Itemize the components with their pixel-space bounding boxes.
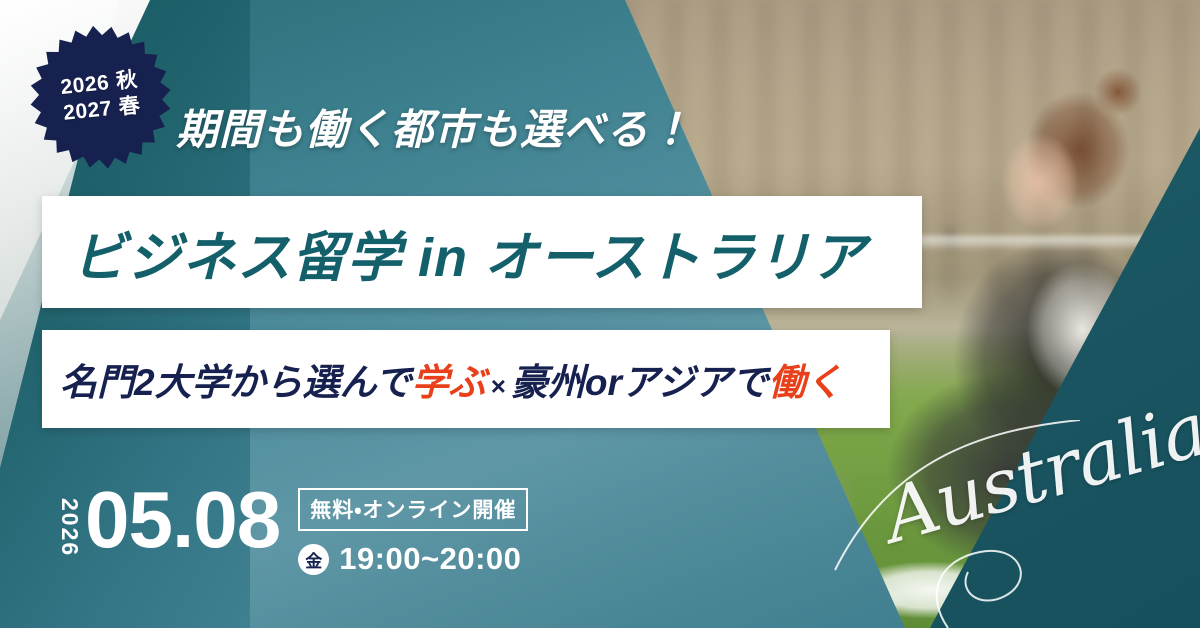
tagline: 期間も働く都市も選べる！ bbox=[176, 96, 692, 157]
free-online-badge: 無料・オンライン開催 bbox=[298, 488, 528, 531]
badge-year-2: 2027 bbox=[62, 96, 113, 124]
promo-banner: Australia 2026秋 2027春 期間も働く都市も選べる！ ビジネス留… bbox=[0, 0, 1200, 628]
event-time-row: 金 19:00~20:00 bbox=[298, 541, 528, 577]
event-details: 無料・オンライン開催 金 19:00~20:00 bbox=[298, 488, 528, 577]
event-time: 19:00~20:00 bbox=[339, 541, 521, 577]
page-title: ビジネス留学 in オーストラリア bbox=[72, 213, 866, 292]
weekday-badge: 金 bbox=[298, 544, 329, 575]
event-year: 2026 bbox=[58, 498, 81, 557]
subtitle-separator: × bbox=[491, 371, 506, 401]
badge-year-1: 2026 bbox=[60, 71, 111, 99]
title-box: ビジネス留学 in オーストラリア bbox=[42, 196, 922, 308]
subtitle-box: 名門2大学から選んで学ぶ×豪州orアジアで働く bbox=[42, 330, 890, 428]
subtitle-highlight-2: 働く bbox=[768, 362, 842, 403]
badge-season-2: 春 bbox=[118, 93, 142, 118]
event-datetime-block: 2026 05.08 無料・オンライン開催 金 19:00~20:00 bbox=[58, 478, 528, 577]
season-badge: 2026秋 2027春 bbox=[21, 17, 180, 176]
subtitle-part-2: 豪州orアジアで bbox=[511, 362, 769, 403]
subtitle-part-1: 名門2大学から選んで bbox=[60, 362, 412, 403]
subtitle: 名門2大学から選んで学ぶ×豪州orアジアで働く bbox=[60, 352, 842, 406]
season-badge-text: 2026秋 2027春 bbox=[21, 17, 180, 176]
event-date: 05.08 bbox=[85, 482, 280, 559]
badge-season-1: 秋 bbox=[115, 68, 139, 93]
subtitle-highlight-1: 学ぶ bbox=[412, 362, 486, 403]
